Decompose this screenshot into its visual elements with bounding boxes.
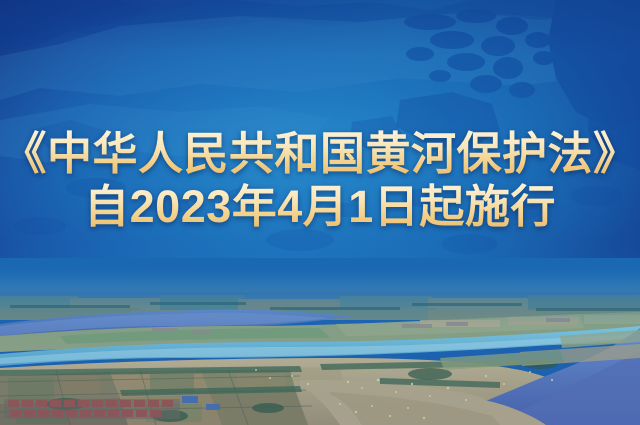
yellow-river-photo	[0, 258, 640, 425]
yellow-river-aerial-illustration	[0, 258, 640, 425]
title-line-2: 自2023年4月1日起施行	[0, 180, 640, 233]
poster-title-block: 《中华人民共和国黄河保护法》 自2023年4月1日起施行	[0, 128, 640, 233]
poster-root: 《中华人民共和国黄河保护法》 自2023年4月1日起施行	[0, 0, 640, 425]
title-line-1: 《中华人民共和国黄河保护法》	[0, 128, 640, 180]
